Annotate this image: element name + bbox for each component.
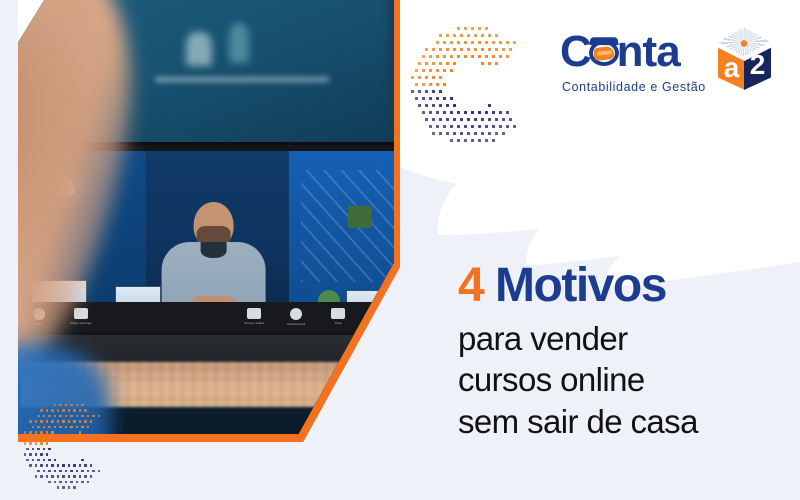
- shelf-plant-2-icon: [229, 23, 249, 63]
- promo-banner: Mute Video settings Screen share: [0, 0, 800, 500]
- presenter-collar: [201, 242, 227, 258]
- video-call-presenter: [166, 202, 261, 314]
- toolbar-video-settings-label: Video settings: [70, 321, 92, 325]
- headline-subtitle: para vender cursos online sem sair de ca…: [458, 318, 788, 442]
- chat-icon: [331, 308, 345, 319]
- toolbar-chat-label: Chat: [335, 321, 342, 325]
- headline-subtitle-line-2: cursos online: [458, 359, 788, 400]
- toolbar-chat-button[interactable]: Chat: [321, 308, 355, 325]
- cube-letter-a: a: [724, 54, 740, 82]
- headline-title: 4 Motivos: [458, 262, 788, 310]
- toolbar-screen-share-button[interactable]: Screen share: [237, 308, 271, 325]
- a2-cube-logo: a 2: [712, 28, 784, 104]
- brand-wordmark: Conta: [560, 30, 680, 74]
- wall-shelf: [155, 77, 329, 82]
- headline-subtitle-line-3: sem sair de casa: [458, 401, 788, 442]
- shelf-plant-icon: [186, 32, 212, 66]
- cap-mortarboard: [589, 37, 618, 45]
- headline-block: 4 Motivos para vender cursos online sem …: [458, 262, 788, 442]
- cube-letter-2: 2: [750, 51, 766, 79]
- toolbar-record-label: Record: [375, 322, 386, 326]
- screen-share-icon: [247, 308, 261, 319]
- headline-keyword: Motivos: [495, 259, 666, 312]
- hero-photo-hexagon: Mute Video settings Screen share: [0, 0, 400, 442]
- brand-logo[interactable]: Conta Contabilidade e Gestão a 2: [560, 28, 784, 108]
- brand-tagline: Contabilidade e Gestão: [562, 80, 706, 94]
- toolbar-screen-share-label: Screen share: [244, 321, 264, 325]
- graduation-cap-handshake-icon: [589, 36, 619, 66]
- left-edge-strip: [0, 0, 18, 500]
- toolbar-participants-button[interactable]: Participants: [279, 308, 313, 326]
- headline-number: 4: [458, 259, 483, 312]
- toolbar-participants-label: Participants: [287, 322, 305, 326]
- moss-panel: [348, 206, 372, 228]
- participants-icon: [290, 308, 302, 320]
- camera-icon: [74, 308, 88, 319]
- handshake-shape: [593, 46, 614, 61]
- headline-subtitle-line-1: para vender: [458, 318, 788, 359]
